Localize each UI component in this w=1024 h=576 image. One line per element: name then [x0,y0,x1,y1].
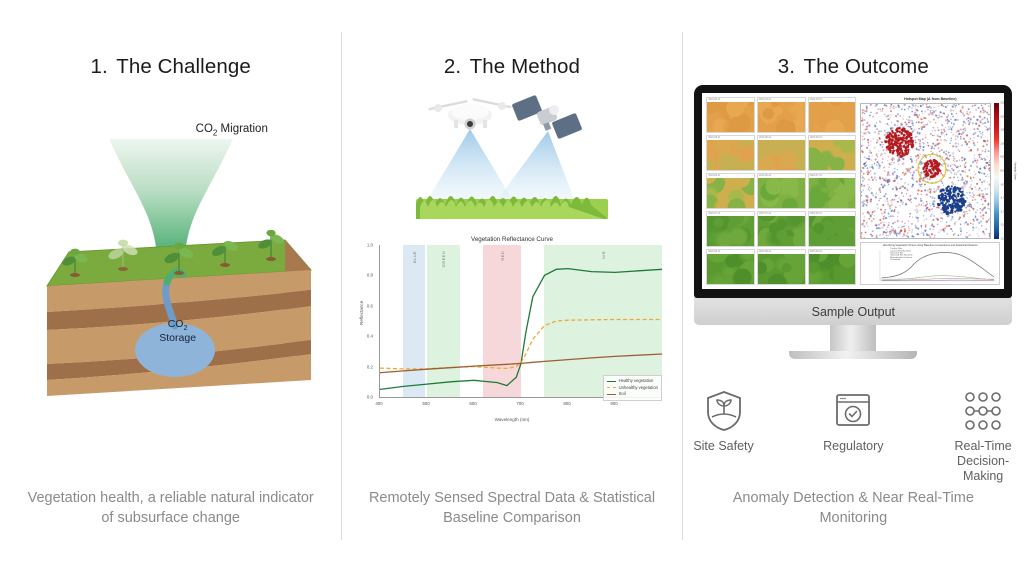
anomaly-point [878,227,880,229]
anomaly-point [912,185,914,187]
anomaly-point [981,105,982,106]
anomaly-point [965,166,967,168]
anomaly-point [918,189,920,191]
anomaly-point [910,195,911,197]
anomaly-point [938,147,940,149]
anomaly-point [954,105,956,107]
anomaly-point [961,179,963,181]
anomaly-point [977,195,978,196]
anomaly-point [981,181,983,183]
anomaly-point [987,113,988,114]
y-tick: 0.4 [367,334,373,339]
anomaly-point [921,194,922,195]
anomaly-point [968,114,970,116]
anomaly-point [883,224,885,226]
anomaly-point [950,188,952,191]
anomaly-point [926,194,928,196]
anomaly-point [933,127,935,129]
anomaly-point [885,193,887,195]
anomaly-point [939,106,940,107]
anomaly-point [891,159,893,161]
anomaly-point [913,172,915,174]
anomaly-point [918,121,920,123]
anomaly-point [897,182,898,183]
anomaly-point [973,194,975,196]
anomaly-point [872,155,873,156]
anomaly-point [894,233,896,235]
trend-legend-label: Control Site Baseline [891,250,912,252]
anomaly-point [877,128,878,130]
trend-legend-label: Threshold [891,259,901,260]
anomaly-point [873,194,875,196]
anomaly-point [952,164,953,165]
anomaly-point [962,188,964,190]
anomaly-point [948,126,949,127]
anomaly-point [882,226,884,228]
anomaly-point [934,148,935,149]
anomaly-point [869,124,871,126]
anomaly-point [921,172,923,174]
anomaly-point [930,156,931,157]
anomaly-point [863,189,864,190]
panel-3-caption: Anomaly Detection & Near Real-Time Monit… [683,488,1024,528]
anomaly-point [876,154,878,156]
anomaly-point [888,125,890,127]
ndvi-tile-grid: 2023-04-112023-04-212023-05-012023-05-11… [706,97,856,285]
monitor-screen: 2023-04-112023-04-212023-05-012023-05-11… [702,93,1004,289]
anomaly-point [989,218,990,220]
anomaly-point [885,209,886,210]
anomaly-point [914,114,916,116]
anomaly-point [921,232,922,233]
anomaly-point [969,123,971,125]
anomaly-point [985,212,987,214]
anomaly-point [933,119,935,121]
anomaly-point [915,210,916,211]
anomaly-point [948,158,950,160]
anomaly-point [871,152,873,154]
hotspot-map-panel: Hotspot Map (Δ from Baseline) 2.52.01.51… [860,97,1000,239]
benefit-label: Regulatory [823,439,883,454]
anomaly-point [965,171,966,172]
anomaly-point [966,143,968,145]
anomaly-point [934,235,936,237]
anomaly-point [916,159,917,160]
anomaly-point [951,128,953,130]
anomaly-point [899,151,902,154]
anomaly-point [928,234,930,236]
trend-series [882,276,994,280]
anomaly-point [934,200,936,202]
anomaly-point [896,135,898,137]
chart-title: Vegetation Reflectance Curve [357,236,667,243]
legend-swatch [607,381,616,382]
anomaly-point [959,150,960,151]
anomaly-point [891,215,893,217]
colorbar-ticks: 2.52.01.51.00.50.0-0.5-1.0-1.5-2.0-2.5 [1000,103,1012,239]
anomaly-point [967,175,969,177]
anomaly-point [894,162,896,164]
anomaly-point [964,158,966,160]
anomaly-point [904,130,906,132]
anomaly-point [924,189,926,191]
anomaly-point [982,209,984,211]
anomaly-point [974,144,976,146]
anomaly-point [977,233,978,234]
anomaly-point [972,223,974,225]
trend-legend-label: Stressed Site Baseline [891,254,913,256]
anomaly-point [896,145,898,147]
colorbar-tick: 2.0 [1000,115,1004,118]
anomaly-point [926,201,928,203]
anomaly-point [884,216,886,218]
anomaly-point [956,146,958,148]
anomaly-point [939,204,941,206]
anomaly-point [865,232,867,234]
anomaly-point [979,115,981,117]
anomaly-point [982,204,983,205]
anomaly-point [969,141,971,143]
anomaly-point [911,144,914,147]
anomaly-point [950,154,951,155]
anomaly-point [988,164,990,166]
anomaly-point [957,177,958,178]
anomaly-point [918,139,920,141]
anomaly-point [957,187,959,189]
anomaly-point [973,142,975,144]
anomaly-point [918,194,919,195]
anomaly-point [925,124,927,126]
anomaly-point [950,143,951,144]
anomaly-point [902,204,903,205]
anomaly-point [911,201,913,203]
anomaly-point [878,133,880,135]
anomaly-point [960,228,962,230]
anomaly-point [898,148,900,150]
anomaly-point [878,163,880,165]
anomaly-point [921,204,923,206]
anomaly-point [891,107,893,109]
anomaly-point [969,210,971,212]
anomaly-point [923,205,924,206]
anomaly-point [954,188,956,190]
anomaly-point [964,165,965,166]
anomaly-point [915,107,916,108]
anomaly-point [879,167,881,169]
anomaly-point [874,124,876,126]
anomaly-point [868,142,870,144]
anomaly-point [987,156,988,157]
anomaly-point [986,151,987,152]
anomaly-point [951,132,952,133]
anomaly-point [927,171,929,173]
anomaly-point [965,169,966,170]
anomaly-point [953,201,955,204]
anomaly-point [955,142,957,144]
anomaly-point [889,132,891,134]
anomaly-point [988,204,990,206]
benefit-regulatory[interactable]: Regulatory [812,390,894,484]
anomaly-point [930,165,932,167]
anomaly-point [908,144,910,146]
anomaly-point [926,233,928,235]
anomaly-point [963,215,965,217]
anomaly-point [884,237,885,238]
anomaly-point [889,167,891,169]
colorbar-tick: -1.0 [1000,197,1004,200]
anomaly-point [962,131,964,133]
anomaly-point [974,157,975,158]
anomaly-point [862,109,864,111]
anomaly-point [982,173,983,174]
anomaly-point [869,155,870,157]
anomaly-point [894,132,897,135]
anomaly-point [882,158,884,160]
anomaly-point [972,192,973,193]
anomaly-point [863,203,865,205]
anomaly-point [882,177,884,179]
anomaly-point [964,194,966,196]
legend-label: Soil [619,391,626,397]
anomaly-point [904,230,906,232]
anomaly-point [985,175,987,177]
anomaly-point [871,166,873,168]
anomaly-point [977,202,978,203]
anomaly-point [905,137,907,139]
anomaly-point [863,220,865,222]
anomaly-point [953,110,955,112]
anomaly-point [881,141,883,143]
anomaly-point [964,115,966,117]
anomaly-point [892,199,893,200]
anomaly-point [896,129,898,131]
anomaly-point [964,223,966,225]
anomaly-point [986,193,988,195]
panel-the-outcome: 3. The Outcome 2023-04-112023-04-212023-… [683,0,1024,576]
anomaly-point [937,117,939,119]
anomaly-point [928,145,930,147]
anomaly-point [912,110,914,112]
anomaly-point [972,188,973,189]
anomaly-point [972,196,974,198]
anomaly-point [982,218,984,220]
anomaly-point [884,166,885,167]
anomaly-point [894,178,895,179]
anomaly-point [877,139,879,141]
anomaly-point [950,212,952,214]
anomaly-point [925,117,927,119]
anomaly-point [916,169,918,171]
anomaly-point [905,182,906,183]
anomaly-point [895,106,897,108]
anomaly-point [863,223,865,225]
anomaly-point [981,154,982,155]
anomaly-point [908,119,910,121]
anomaly-point [953,134,954,135]
anomaly-point [911,161,913,163]
anomaly-point [930,190,931,191]
anomaly-point [862,202,864,204]
benefit-site-safety[interactable]: Site Safety [683,390,765,484]
anomaly-point [957,119,959,121]
benefit-real-time-decision-making[interactable]: Real-Time Decision-Making [942,390,1024,484]
anomaly-point [876,113,877,114]
anomaly-point [952,195,954,197]
anomaly-point [926,230,927,231]
anomaly-point [921,110,923,112]
anomaly-point [876,234,878,236]
anomaly-point [926,104,928,106]
ndvi-tile: 2023-08-01 [808,211,857,247]
anomaly-point [926,106,928,108]
anomaly-point [946,187,949,190]
anomaly-point [887,123,889,125]
anomaly-point [948,190,951,193]
ndvi-tile: 2023-06-21 [757,173,806,209]
anomaly-point [866,105,868,107]
anomaly-point [955,138,957,140]
anomaly-point [907,150,909,152]
anomaly-point [948,164,950,166]
anomaly-point [865,165,867,167]
anomaly-point [981,137,983,139]
anomaly-point [973,197,974,198]
anomaly-point [966,181,968,183]
anomaly-point [891,200,892,201]
anomaly-point [952,126,954,128]
anomaly-point [928,109,929,110]
anomaly-point [917,193,919,195]
vegetation-reflectance-chart: Vegetation Reflectance Curve Reflectance… [357,233,667,423]
anomaly-point [965,130,967,132]
anomaly-point [951,185,953,187]
anomaly-point [937,139,939,141]
anomaly-point [934,197,936,199]
anomaly-point [880,209,882,211]
anomaly-point [881,213,883,215]
anomaly-point [899,127,902,130]
anomaly-point [874,210,876,212]
hotspot-colorbar: 2.52.01.51.00.50.0-0.5-1.0-1.5-2.0-2.5 A… [994,103,1000,239]
anomaly-point [954,146,955,147]
colorbar-tick: 1.5 [1000,129,1004,132]
anomaly-point [960,166,961,168]
anomaly-point [924,210,926,212]
anomaly-point [867,196,869,198]
anomaly-point [956,113,957,114]
anomaly-point [882,221,883,222]
anomaly-point [926,157,927,159]
anomaly-point [911,128,912,129]
anomaly-point [890,117,891,118]
series-line [380,354,662,373]
co2-migration-diagram: CO2 Migration [21,95,321,395]
analysis-column: Hotspot Map (Δ from Baseline) 2.52.01.51… [860,97,1000,285]
anomaly-point [941,209,943,211]
anomaly-point [899,176,900,177]
anomaly-point [863,205,865,207]
anomaly-point [871,220,873,222]
anomaly-point [890,233,892,235]
anomaly-point [908,226,909,228]
anomaly-point [950,228,952,230]
anomaly-point [897,175,899,177]
anomaly-point [910,168,912,170]
anomaly-point [910,156,911,157]
anomaly-point [887,198,889,200]
ndvi-tile: 2023-04-11 [706,97,755,133]
anomaly-point [926,210,928,212]
anomaly-point [940,111,942,113]
anomaly-point [881,183,883,185]
y-tick: 0.0 [367,395,373,400]
anomaly-point [961,174,963,176]
anomaly-point [863,132,865,134]
anomaly-point [943,105,945,107]
anomaly-point [939,116,941,118]
tile-date-label: 2023-07-11 [707,212,754,216]
anomaly-point [890,106,891,108]
anomaly-point [979,172,981,174]
anomaly-point [883,179,885,181]
anomaly-point [869,114,871,116]
anomaly-point [941,181,943,183]
anomaly-point [981,199,983,201]
anomaly-point [870,145,871,146]
anomaly-point [864,178,866,180]
tile-date-label: 2023-04-21 [758,98,805,102]
anomaly-point [934,107,936,109]
anomaly-point [883,232,884,233]
anomaly-point [963,128,965,130]
anomaly-point [867,139,869,141]
anomaly-point [960,128,962,130]
anomaly-point [918,149,920,151]
anomaly-point [976,123,978,125]
anomaly-point [965,128,967,130]
y-tick: 0.6 [367,303,373,308]
anomaly-point [942,182,943,184]
anomaly-point [885,200,886,201]
anomaly-point [950,118,951,119]
anomaly-point [941,195,944,198]
anomaly-point [941,116,943,118]
anomaly-point [880,187,882,189]
anomaly-point [906,168,908,170]
anomaly-point [891,204,893,206]
anomaly-point [964,186,965,187]
anomaly-point [945,120,947,122]
anomaly-point [880,144,882,146]
anomaly-point [946,134,948,136]
monitor-stand-neck [830,325,876,351]
anomaly-point [902,152,904,154]
anomaly-point [947,169,949,171]
anomaly-point [930,196,931,197]
anomaly-point [872,211,874,213]
anomaly-point [950,140,952,142]
anomaly-point [988,168,990,170]
anomaly-point [984,200,986,202]
anomaly-point [887,226,889,228]
anomaly-point [864,225,866,227]
anomaly-point [885,140,888,143]
anomaly-point [906,188,908,190]
anomaly-point [894,180,895,181]
anomaly-point [876,179,877,180]
anomaly-point [950,165,952,167]
anomaly-point [968,117,970,119]
